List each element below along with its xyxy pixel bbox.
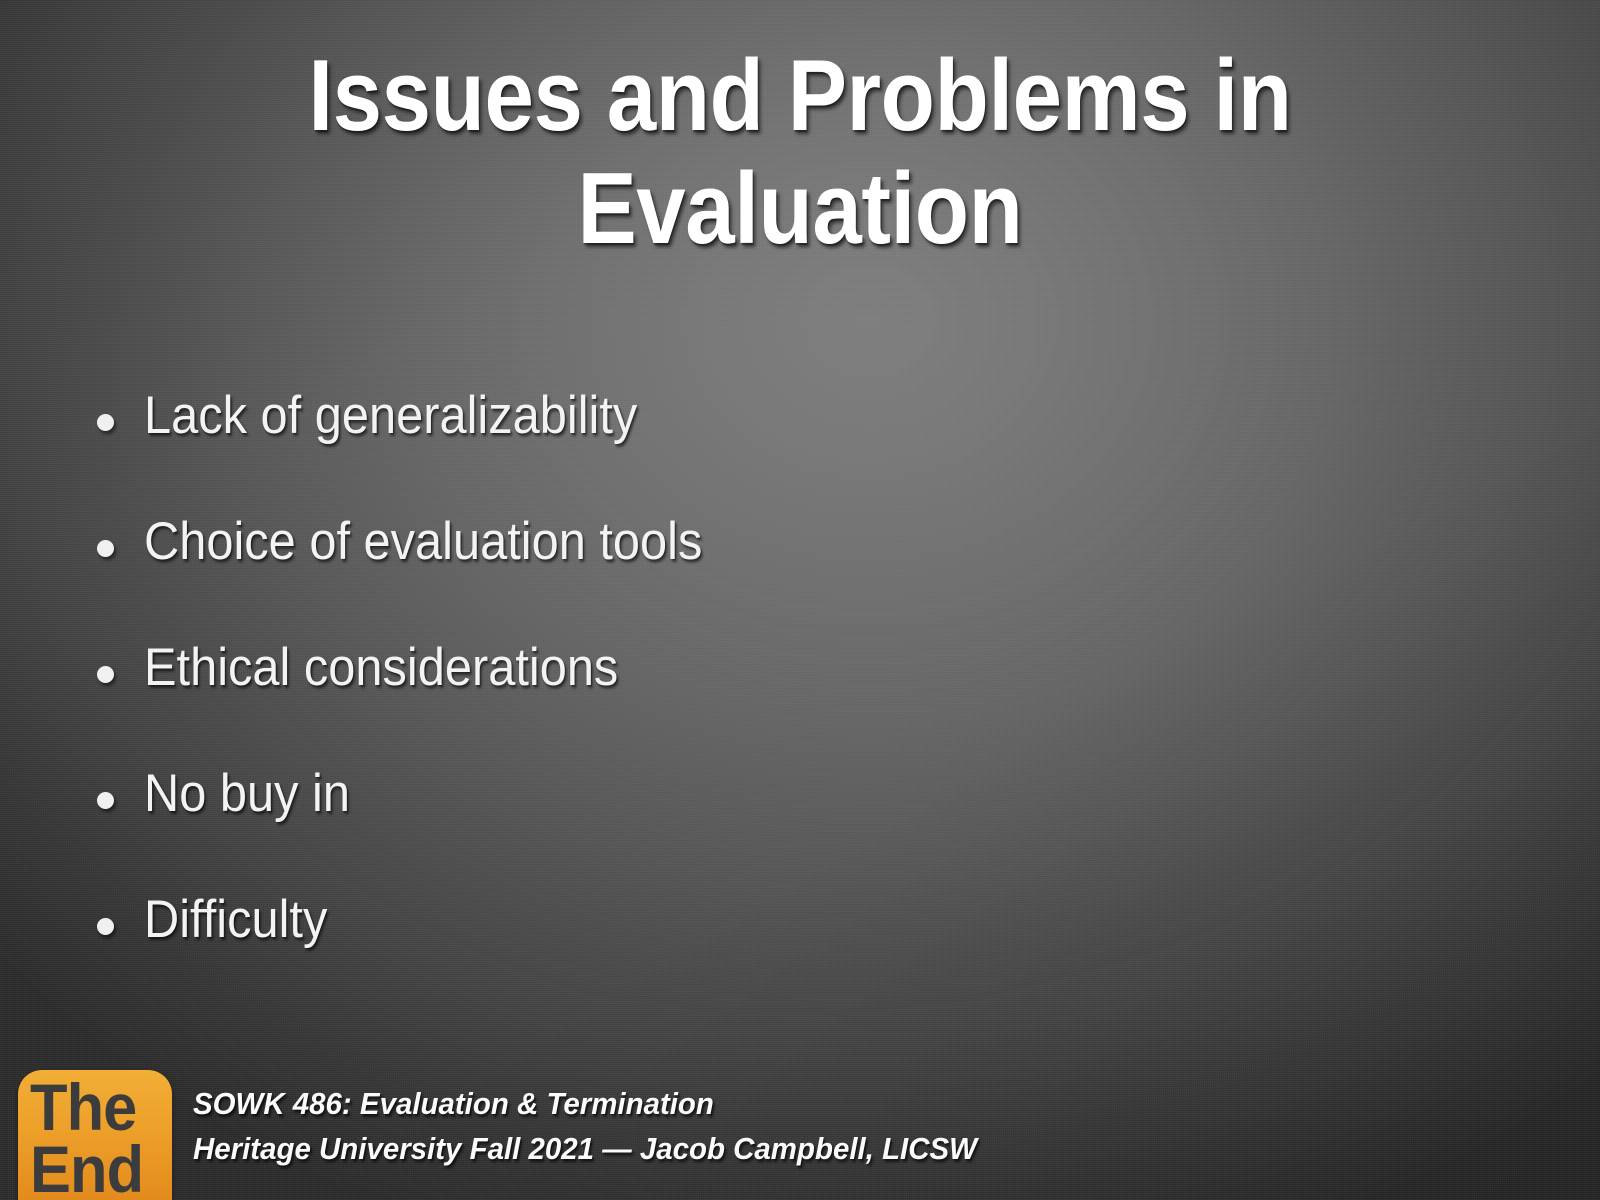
bullet-point-icon [97,540,114,557]
list-item-label: Choice of evaluation tools [144,512,702,572]
list-item-label: Difficulty [144,890,327,950]
footer: SOWK 486: Evaluation & Termination Herit… [193,1081,1393,1171]
bullet-point-icon [97,918,114,935]
footer-institution-line: Heritage University Fall 2021 — Jacob Ca… [193,1126,1333,1171]
list-item-label: Ethical considerations [144,638,618,698]
presentation-slide: Issues and Problems in Evaluation Lack o… [0,0,1600,1200]
list-item: Difficulty [92,890,1492,1016]
list-item-label: Lack of generalizability [144,386,637,446]
bullet-point-icon [97,792,114,809]
list-item: Choice of evaluation tools [92,512,1492,638]
list-item: No buy in [92,764,1492,890]
the-end-badge-label: The End [30,1076,143,1200]
bullet-list: Lack of generalizability Choice of evalu… [92,386,1492,1016]
bullet-point-icon [97,414,114,431]
footer-course-line: SOWK 486: Evaluation & Termination [193,1081,1333,1126]
list-item: Ethical considerations [92,638,1492,764]
list-item: Lack of generalizability [92,386,1492,512]
bullet-point-icon [97,666,114,683]
slide-title: Issues and Problems in Evaluation [202,40,1399,266]
the-end-badge-icon: The End [18,1070,172,1200]
list-item-label: No buy in [144,764,350,824]
